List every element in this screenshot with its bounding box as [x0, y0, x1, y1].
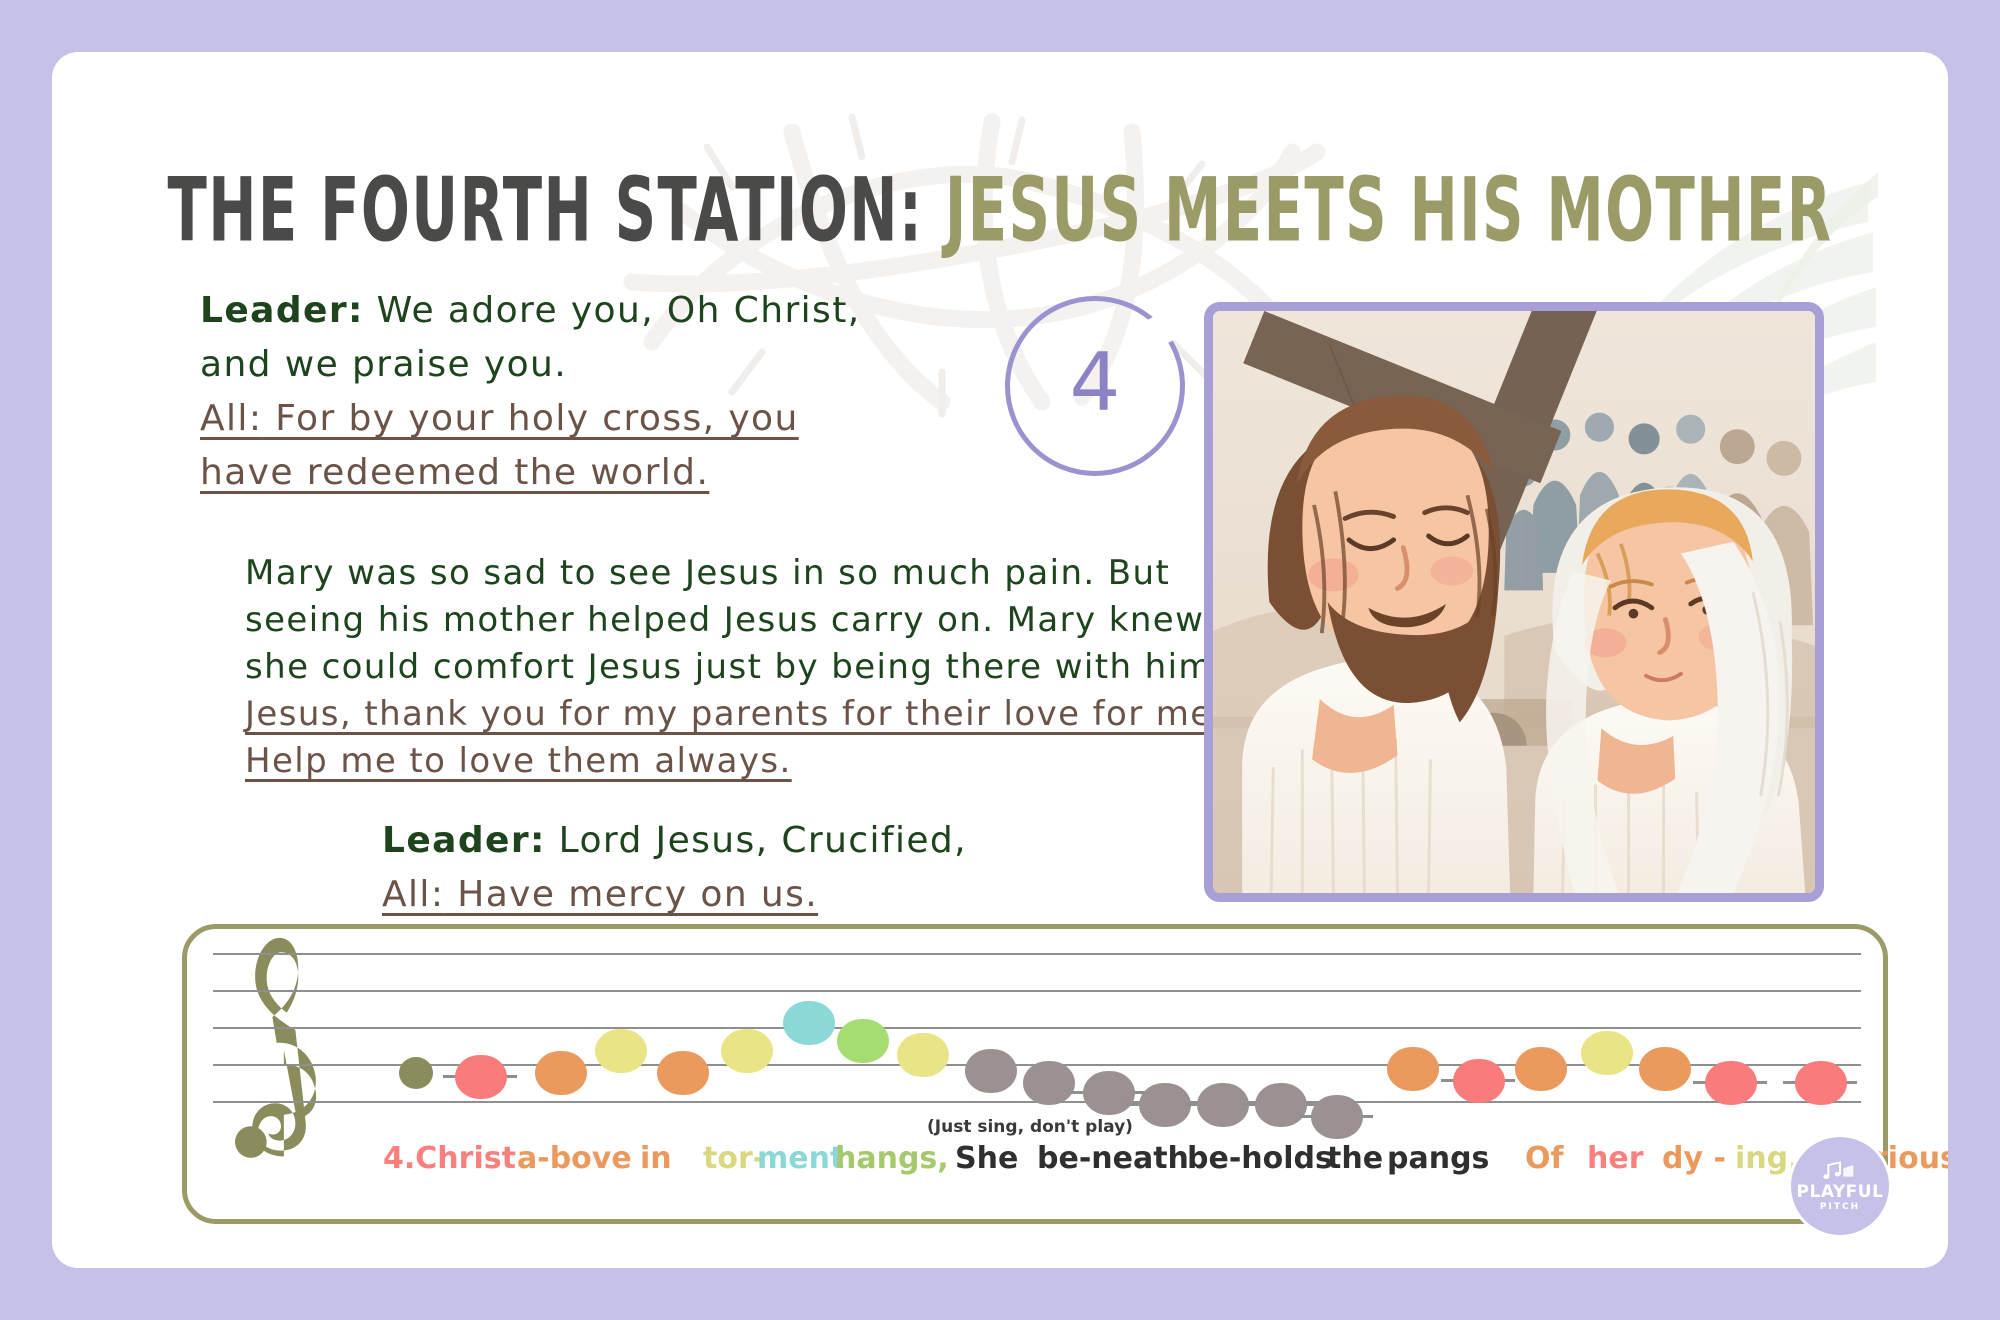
- note-head-2[interactable]: [455, 1055, 507, 1099]
- note-head-5[interactable]: [657, 1051, 709, 1095]
- lyric-syllable-7: She: [955, 1141, 1018, 1176]
- lyric-syllable-1: 4.Christ: [383, 1141, 516, 1176]
- staff-line-3: [213, 1027, 1861, 1029]
- note-head-3[interactable]: [535, 1051, 587, 1095]
- illustration-svg: [1213, 311, 1815, 893]
- note-head-8[interactable]: [837, 1019, 889, 1063]
- staff-line-1: [213, 953, 1861, 955]
- title-part-2: JESUS MEETS HIS MOTHER: [945, 158, 1833, 262]
- poster-page: THE FOURTH STATION: JESUS MEETS HIS MOTH…: [0, 0, 2000, 1320]
- note-head-18[interactable]: [1453, 1059, 1505, 1103]
- closing-leader-line: Leader: Lord Jesus, Crucified,: [382, 814, 1142, 868]
- lyric-syllable-3: in: [640, 1141, 672, 1176]
- logo-note-icon: [1823, 1160, 1857, 1180]
- leader-line-2-text: and we praise you.: [200, 344, 567, 385]
- story-line-1: Mary was so sad to see Jesus in so much …: [245, 550, 1275, 597]
- story-block: Mary was so sad to see Jesus in so much …: [245, 550, 1275, 785]
- closing-all-text: Have mercy on us.: [444, 874, 818, 915]
- station-number-badge: 4: [1005, 296, 1185, 476]
- closing-leader-label: Leader:: [382, 820, 546, 861]
- lyric-syllable-2: a-bove: [517, 1141, 632, 1176]
- lyric-syllable-11: pangs: [1387, 1141, 1489, 1176]
- staff-line-2: [213, 990, 1861, 992]
- logo-line-1: PLAYFUL: [1797, 1182, 1884, 1202]
- story-line-2-text: seeing his mother helped Jesus carry on.…: [245, 600, 1204, 640]
- lyric-syllable-9: be-holds: [1187, 1141, 1333, 1176]
- note-head-1[interactable]: [399, 1057, 433, 1089]
- mary-figure: [1533, 487, 1805, 893]
- note-head-21[interactable]: [1639, 1047, 1691, 1091]
- lyric-syllable-5: ment: [757, 1141, 844, 1176]
- prayer-line-1-text: Jesus, thank you for my parents for thei…: [245, 694, 1225, 734]
- leader-response-block: Leader: We adore you, Oh Christ, and we …: [200, 284, 940, 500]
- logo-line-2: PITCH: [1820, 1202, 1860, 1212]
- title-part-1: THE FOURTH STATION:: [167, 158, 923, 262]
- closing-block: Leader: Lord Jesus, Crucified, All: Have…: [382, 814, 1142, 922]
- leader-line-1: Leader: We adore you, Oh Christ,: [200, 284, 940, 338]
- jesus-meets-mother-illustration: [1204, 302, 1824, 902]
- lyric-syllable-10: the: [1327, 1141, 1383, 1176]
- lyric-syllable-4: tor-: [703, 1141, 765, 1176]
- lyric-syllable-13: her: [1587, 1141, 1644, 1176]
- note-head-6[interactable]: [721, 1029, 773, 1073]
- note-head-12[interactable]: [1083, 1071, 1135, 1115]
- closing-all-label: All:: [382, 874, 444, 915]
- note-head-4[interactable]: [595, 1029, 647, 1073]
- lyric-syllable-12: Of: [1525, 1141, 1564, 1176]
- all-line-2-text: have redeemed the world.: [200, 452, 709, 493]
- note-head-10[interactable]: [965, 1049, 1017, 1093]
- playful-pitch-logo[interactable]: PLAYFUL PITCH: [1788, 1134, 1892, 1238]
- station-number: 4: [1070, 336, 1121, 429]
- note-head-14[interactable]: [1197, 1083, 1249, 1127]
- all-label: All:: [200, 398, 262, 439]
- note-head-11[interactable]: [1023, 1061, 1075, 1105]
- story-line-3-text: she could comfort Jesus just by being th…: [245, 647, 1225, 687]
- just-sing-annotation: (Just sing, don't play): [927, 1117, 1133, 1137]
- story-line-3: she could comfort Jesus just by being th…: [245, 644, 1275, 691]
- note-head-15[interactable]: [1255, 1083, 1307, 1127]
- prayer-line-1: Jesus, thank you for my parents for thei…: [245, 691, 1275, 738]
- note-head-16[interactable]: [1311, 1095, 1363, 1139]
- story-line-1-text: Mary was so sad to see Jesus in so much …: [245, 553, 1170, 593]
- note-head-22[interactable]: [1705, 1061, 1757, 1105]
- lyric-syllable-14: dy -: [1662, 1141, 1726, 1176]
- lyrics-row: 4.Christa-boveintor-menthangs,Shebe-neat…: [187, 1141, 1883, 1191]
- prayer-line-2: Help me to love them always.: [245, 738, 1275, 785]
- page-title: THE FOURTH STATION: JESUS MEETS HIS MOTH…: [118, 158, 1881, 262]
- prayer-line-2-text: Help me to love them always.: [245, 741, 792, 781]
- all-line-1: All: For by your holy cross, you: [200, 392, 940, 446]
- note-head-7[interactable]: [783, 1001, 835, 1045]
- note-head-9[interactable]: [897, 1033, 949, 1077]
- treble-clef-icon: [221, 935, 341, 1165]
- all-line-1-text: For by your holy cross, you: [262, 398, 798, 439]
- closing-leader-text: Lord Jesus, Crucified,: [546, 820, 967, 861]
- leader-label: Leader:: [200, 290, 364, 331]
- note-head-13[interactable]: [1139, 1083, 1191, 1127]
- note-head-20[interactable]: [1581, 1031, 1633, 1075]
- story-line-2: seeing his mother helped Jesus carry on.…: [245, 597, 1275, 644]
- leader-line-2: and we praise you.: [200, 338, 940, 392]
- note-head-17[interactable]: [1387, 1047, 1439, 1091]
- note-head-23[interactable]: [1795, 1061, 1847, 1105]
- music-staff-panel: 4.Christa-boveintor-menthangs,Shebe-neat…: [182, 924, 1888, 1224]
- all-line-2: have redeemed the world.: [200, 446, 940, 500]
- lyric-syllable-6: hangs,: [835, 1141, 949, 1176]
- poster-card: THE FOURTH STATION: JESUS MEETS HIS MOTH…: [52, 52, 1948, 1268]
- closing-all-line: All: Have mercy on us.: [382, 868, 1142, 922]
- lyric-syllable-8: be-neath: [1037, 1141, 1189, 1176]
- note-head-19[interactable]: [1515, 1047, 1567, 1091]
- leader-line-1-text: We adore you, Oh Christ,: [364, 290, 861, 331]
